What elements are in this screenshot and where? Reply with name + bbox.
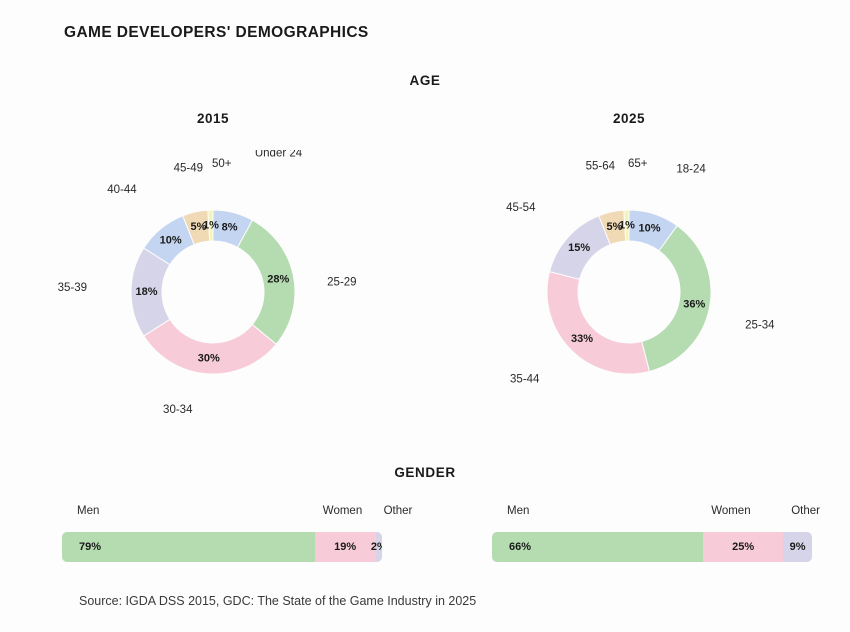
gender-bar-segment[interactable]: 25% xyxy=(703,532,783,562)
gender-bar-value: 79% xyxy=(79,541,101,553)
gender-bar-category-label: Other xyxy=(791,505,820,517)
donut-percent-label: 30% xyxy=(198,352,220,364)
donut-percent-label: 1% xyxy=(203,219,219,231)
donut-percent-label: 36% xyxy=(683,298,705,310)
gender-bar-category-label: Women xyxy=(323,505,362,517)
gender-bar-segment[interactable]: 19% xyxy=(315,532,376,562)
donut-segment[interactable] xyxy=(547,272,649,374)
donut-chart-2015: 8%28%30%18%10%5%1% Under 2425-2930-3435-… xyxy=(3,150,423,435)
gender-bar-segment[interactable]: 66% xyxy=(492,532,703,562)
donut-percent-label: 18% xyxy=(135,286,157,298)
donut-percent-label: 1% xyxy=(619,219,635,231)
year-heading-2015: 2015 xyxy=(153,111,273,126)
donut-percent-label: 28% xyxy=(267,273,289,285)
donut-svg-2025: 10%36%33%15%5%1% 18-2425-3435-4445-5455-… xyxy=(419,150,839,435)
donut-category-label: 45-49 xyxy=(174,163,203,175)
donut-category-label: 25-29 xyxy=(327,277,356,289)
gender-bar-category-label: Men xyxy=(77,505,99,517)
donut-category-label: 35-44 xyxy=(510,374,540,386)
section-heading-age: AGE xyxy=(0,73,850,88)
source-note: Source: IGDA DSS 2015, GDC: The State of… xyxy=(79,594,476,608)
gender-bar-segment[interactable]: 2% xyxy=(376,532,382,562)
gender-bar-category-label: Women xyxy=(711,505,750,517)
year-heading-2025: 2025 xyxy=(569,111,689,126)
donut-category-label: Under 24 xyxy=(255,150,303,160)
donut-percent-label: 33% xyxy=(571,333,593,345)
donut-slices-2025 xyxy=(547,210,711,374)
donut-category-label: 35-39 xyxy=(58,282,87,294)
donut-category-labels-2015: Under 2425-2930-3435-3940-4445-4950+ xyxy=(58,150,357,416)
donut-category-label: 25-34 xyxy=(745,320,775,332)
gender-bar-value: 19% xyxy=(334,541,356,553)
infographic-canvas: GAME DEVELOPERS' DEMOGRAPHICS AGE 2015 2… xyxy=(0,0,850,632)
donut-svg-2015: 8%28%30%18%10%5%1% Under 2425-2930-3435-… xyxy=(3,150,423,435)
donut-segment[interactable] xyxy=(144,319,276,374)
donut-percent-label: 10% xyxy=(639,223,661,235)
gender-bar-segment[interactable]: 9% xyxy=(783,532,812,562)
gender-bar-track-2025: 66%25%9% xyxy=(492,532,812,562)
donut-category-label: 30-34 xyxy=(163,404,193,416)
gender-bar-value: 2% xyxy=(371,541,382,553)
gender-bar-category-label: Men xyxy=(507,505,529,517)
donut-percent-label: 15% xyxy=(568,242,590,254)
donut-category-label: 18-24 xyxy=(676,163,706,175)
donut-category-label: 65+ xyxy=(628,158,648,170)
donut-percent-label: 8% xyxy=(222,221,238,233)
donut-category-label: 40-44 xyxy=(107,184,137,196)
donut-category-label: 45-54 xyxy=(506,202,536,214)
gender-bar-legend-2015: MenWomenOther xyxy=(62,505,382,523)
page-title: GAME DEVELOPERS' DEMOGRAPHICS xyxy=(64,24,369,42)
gender-bar-2025: MenWomenOther 66%25%9% xyxy=(492,505,812,565)
donut-chart-2025: 10%36%33%15%5%1% 18-2425-3435-4445-5455-… xyxy=(419,150,839,435)
gender-bar-2015: MenWomenOther 79%19%2% xyxy=(62,505,382,565)
donut-category-label: 50+ xyxy=(212,158,232,170)
gender-bar-segment[interactable]: 79% xyxy=(62,532,315,562)
gender-bar-value: 25% xyxy=(732,541,754,553)
gender-bar-category-label: Other xyxy=(384,505,413,517)
donut-percent-label: 10% xyxy=(160,235,182,247)
section-heading-gender: GENDER xyxy=(0,465,850,480)
gender-bar-value: 66% xyxy=(509,541,531,553)
donut-category-label: 55-64 xyxy=(586,161,616,173)
gender-bar-track-2015: 79%19%2% xyxy=(62,532,382,562)
gender-bar-legend-2025: MenWomenOther xyxy=(492,505,812,523)
gender-bar-value: 9% xyxy=(790,541,806,553)
